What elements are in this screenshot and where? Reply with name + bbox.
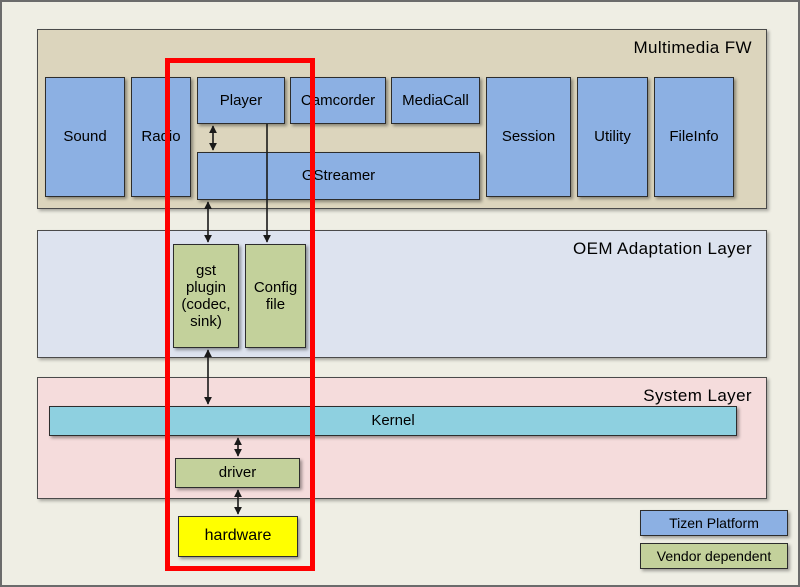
block-mediacall-label: MediaCall [402,92,469,109]
block-utility[interactable]: Utility [577,77,648,197]
block-mediacall[interactable]: MediaCall [391,77,480,124]
architecture-diagram: Multimedia FW Sound Radio Player Camcord… [0,0,800,587]
layer-multimedia-fw-title: Multimedia FW [633,38,752,58]
legend-item-tizen-platform: Tizen Platform [640,510,788,536]
block-camcorder[interactable]: Camcorder [290,77,386,124]
layer-oem-adaptation-title: OEM Adaptation Layer [573,239,752,259]
block-hardware-label: hardware [205,527,272,545]
block-session-label: Session [502,128,555,145]
block-kernel-label: Kernel [371,412,414,429]
block-player-label: Player [220,92,263,109]
block-radio-label: Radio [141,128,180,145]
block-fileinfo[interactable]: FileInfo [654,77,734,197]
block-gst-plugin-label: gst plugin (codec, sink) [181,262,230,331]
block-utility-label: Utility [594,128,631,145]
block-config-file[interactable]: Config file [245,244,306,348]
block-driver-label: driver [219,464,257,481]
block-hardware[interactable]: hardware [178,516,298,557]
block-config-file-label: Config file [254,279,297,314]
block-radio[interactable]: Radio [131,77,191,197]
block-driver[interactable]: driver [175,458,300,488]
block-session[interactable]: Session [486,77,571,197]
layer-system-title: System Layer [643,386,752,406]
legend: Tizen Platform Vendor dependent [640,510,788,574]
legend-item-vendor-dependent: Vendor dependent [640,543,788,569]
block-kernel[interactable]: Kernel [49,406,737,436]
layer-system: System Layer [37,377,767,499]
block-sound-label: Sound [63,128,106,145]
block-gstreamer-label: GStreamer [302,167,375,184]
block-sound[interactable]: Sound [45,77,125,197]
block-camcorder-label: Camcorder [301,92,375,109]
legend-item-tizen-platform-label: Tizen Platform [669,515,759,531]
block-gst-plugin[interactable]: gst plugin (codec, sink) [173,244,239,348]
block-gstreamer[interactable]: GStreamer [197,152,480,200]
legend-item-vendor-dependent-label: Vendor dependent [657,548,771,564]
layer-oem-adaptation: OEM Adaptation Layer [37,230,767,358]
block-player[interactable]: Player [197,77,285,124]
block-fileinfo-label: FileInfo [669,128,718,145]
